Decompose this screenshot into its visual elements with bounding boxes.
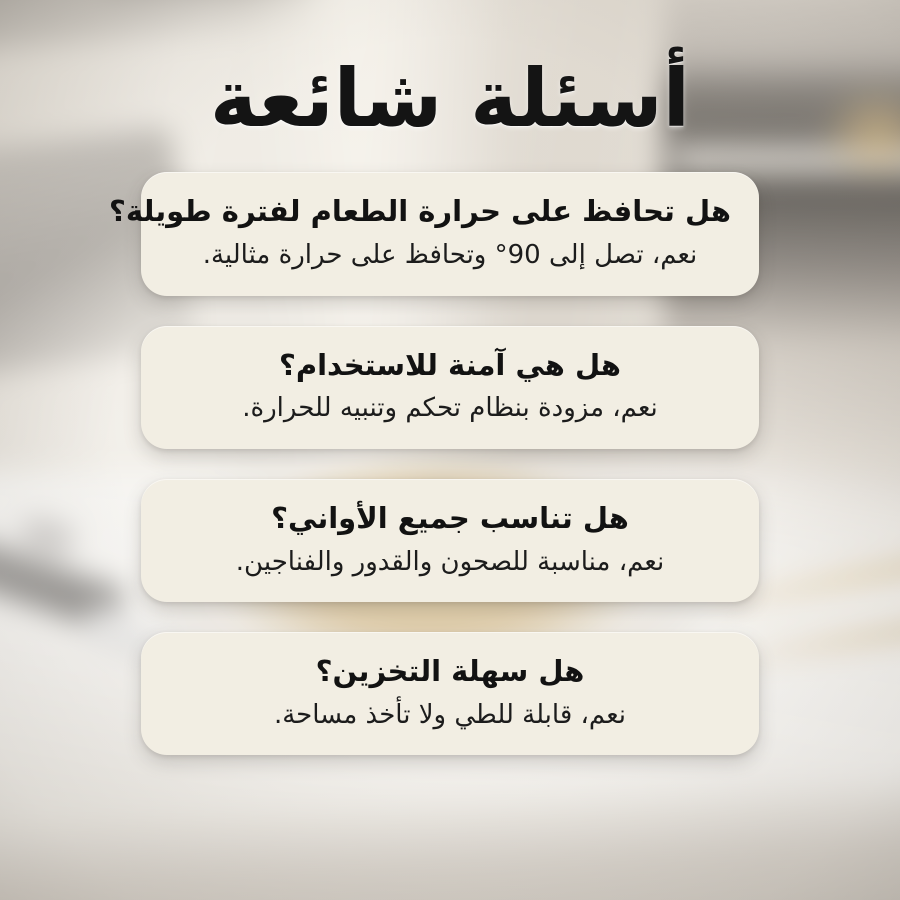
faq-card[interactable]: هل تحافظ على حرارة الطعام لفترة طويلة؟ ن… <box>141 172 759 295</box>
faq-answer: نعم، مناسبة للصحون والقدور والفناجين. <box>169 545 731 580</box>
faq-question: هل سهلة التخزين؟ <box>169 652 731 691</box>
faq-card[interactable]: هل تناسب جميع الأواني؟ نعم، مناسبة للصحو… <box>141 479 759 602</box>
faq-question: هل تحافظ على حرارة الطعام لفترة طويلة؟ <box>169 192 731 231</box>
faq-answer: نعم، تصل إلى 90° وتحافظ على حرارة مثالية… <box>169 238 731 273</box>
faq-answer: نعم، مزودة بنظام تحكم وتنبيه للحرارة. <box>169 391 731 426</box>
faq-poster: أسئلة شائعة هل تحافظ على حرارة الطعام لف… <box>0 0 900 900</box>
faq-card[interactable]: هل هي آمنة للاستخدام؟ نعم، مزودة بنظام ت… <box>141 326 759 449</box>
faq-question: هل تناسب جميع الأواني؟ <box>169 499 731 538</box>
poster-content: أسئلة شائعة هل تحافظ على حرارة الطعام لف… <box>0 0 900 900</box>
faq-answer: نعم، قابلة للطي ولا تأخذ مساحة. <box>169 698 731 733</box>
page-title: أسئلة شائعة <box>210 56 690 142</box>
faq-question: هل هي آمنة للاستخدام؟ <box>169 346 731 385</box>
faq-card[interactable]: هل سهلة التخزين؟ نعم، قابلة للطي ولا تأخ… <box>141 632 759 755</box>
faq-list: هل تحافظ على حرارة الطعام لفترة طويلة؟ ن… <box>141 172 759 755</box>
